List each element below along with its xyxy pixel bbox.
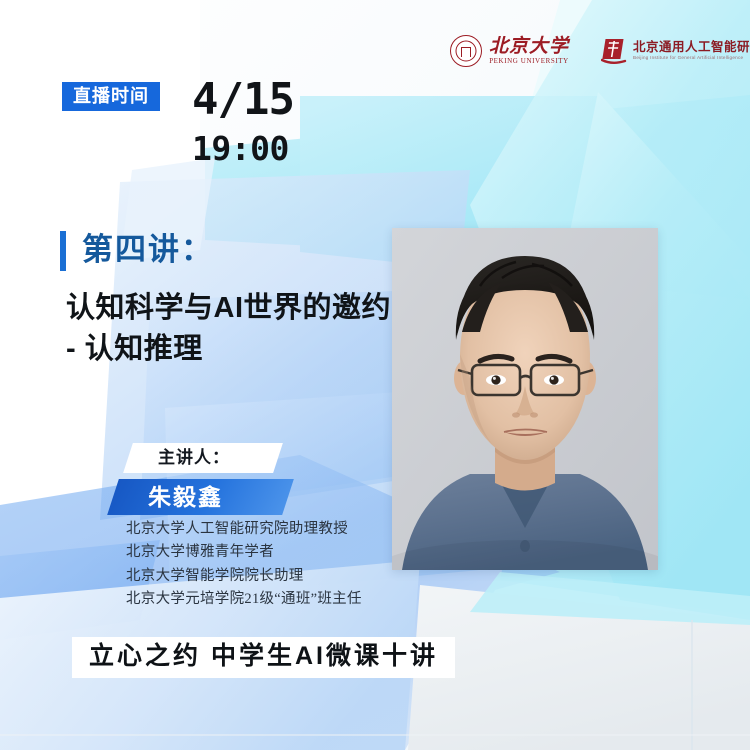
speaker-role-label: 主讲人： [158,449,230,466]
bigai-logo-en-name: Beijing Institute for General Artificial… [633,56,750,61]
speaker-name: 朱毅鑫 [148,486,223,509]
live-time-badge: 直播时间 [62,82,160,111]
header-logos: 北京大学 PEKING UNIVERSITY 北京通用人工智能研究院 Beiji… [450,28,738,74]
bigai-logo: 北京通用人工智能研究院 Beijing Institute for Genera… [601,36,750,66]
webinar-poster: 北京大学 PEKING UNIVERSITY 北京通用人工智能研究院 Beiji… [0,0,750,750]
credential-line: 北京大学人工智能研究院助理教授 [126,518,362,541]
pku-logo-en-name: PEKING UNIVERSITY [489,58,569,65]
speaker-credentials: 北京大学人工智能研究院助理教授 北京大学博雅青年学者 北京大学智能学院院长助理 … [126,518,362,612]
bigai-tong-seal-icon [601,36,627,66]
series-title: 立心之约 中学生AI微课十讲 [89,644,438,669]
bigai-logo-cn-name: 北京通用人工智能研究院 [633,41,750,54]
credential-line: 北京大学博雅青年学者 [126,541,362,564]
peking-university-seal-icon [450,35,482,67]
lecture-accent-bar [60,231,66,271]
speaker-portrait [392,228,658,570]
lecture-number: 第四讲： [82,231,214,268]
series-banner: 立心之约 中学生AI微课十讲 [72,637,455,678]
pku-logo-cn-name: 北京大学 [489,37,569,56]
pku-logo: 北京大学 PEKING UNIVERSITY [450,35,569,67]
credential-line: 北京大学元培学院21级“通班”班主任 [126,588,362,611]
live-date: 4/15 [192,78,294,122]
live-time: 19:00 [192,132,289,165]
credential-line: 北京大学智能学院院长助理 [126,565,362,588]
lecture-title: 认知科学与AI世界的邀约 - 认知推理 [66,288,396,370]
